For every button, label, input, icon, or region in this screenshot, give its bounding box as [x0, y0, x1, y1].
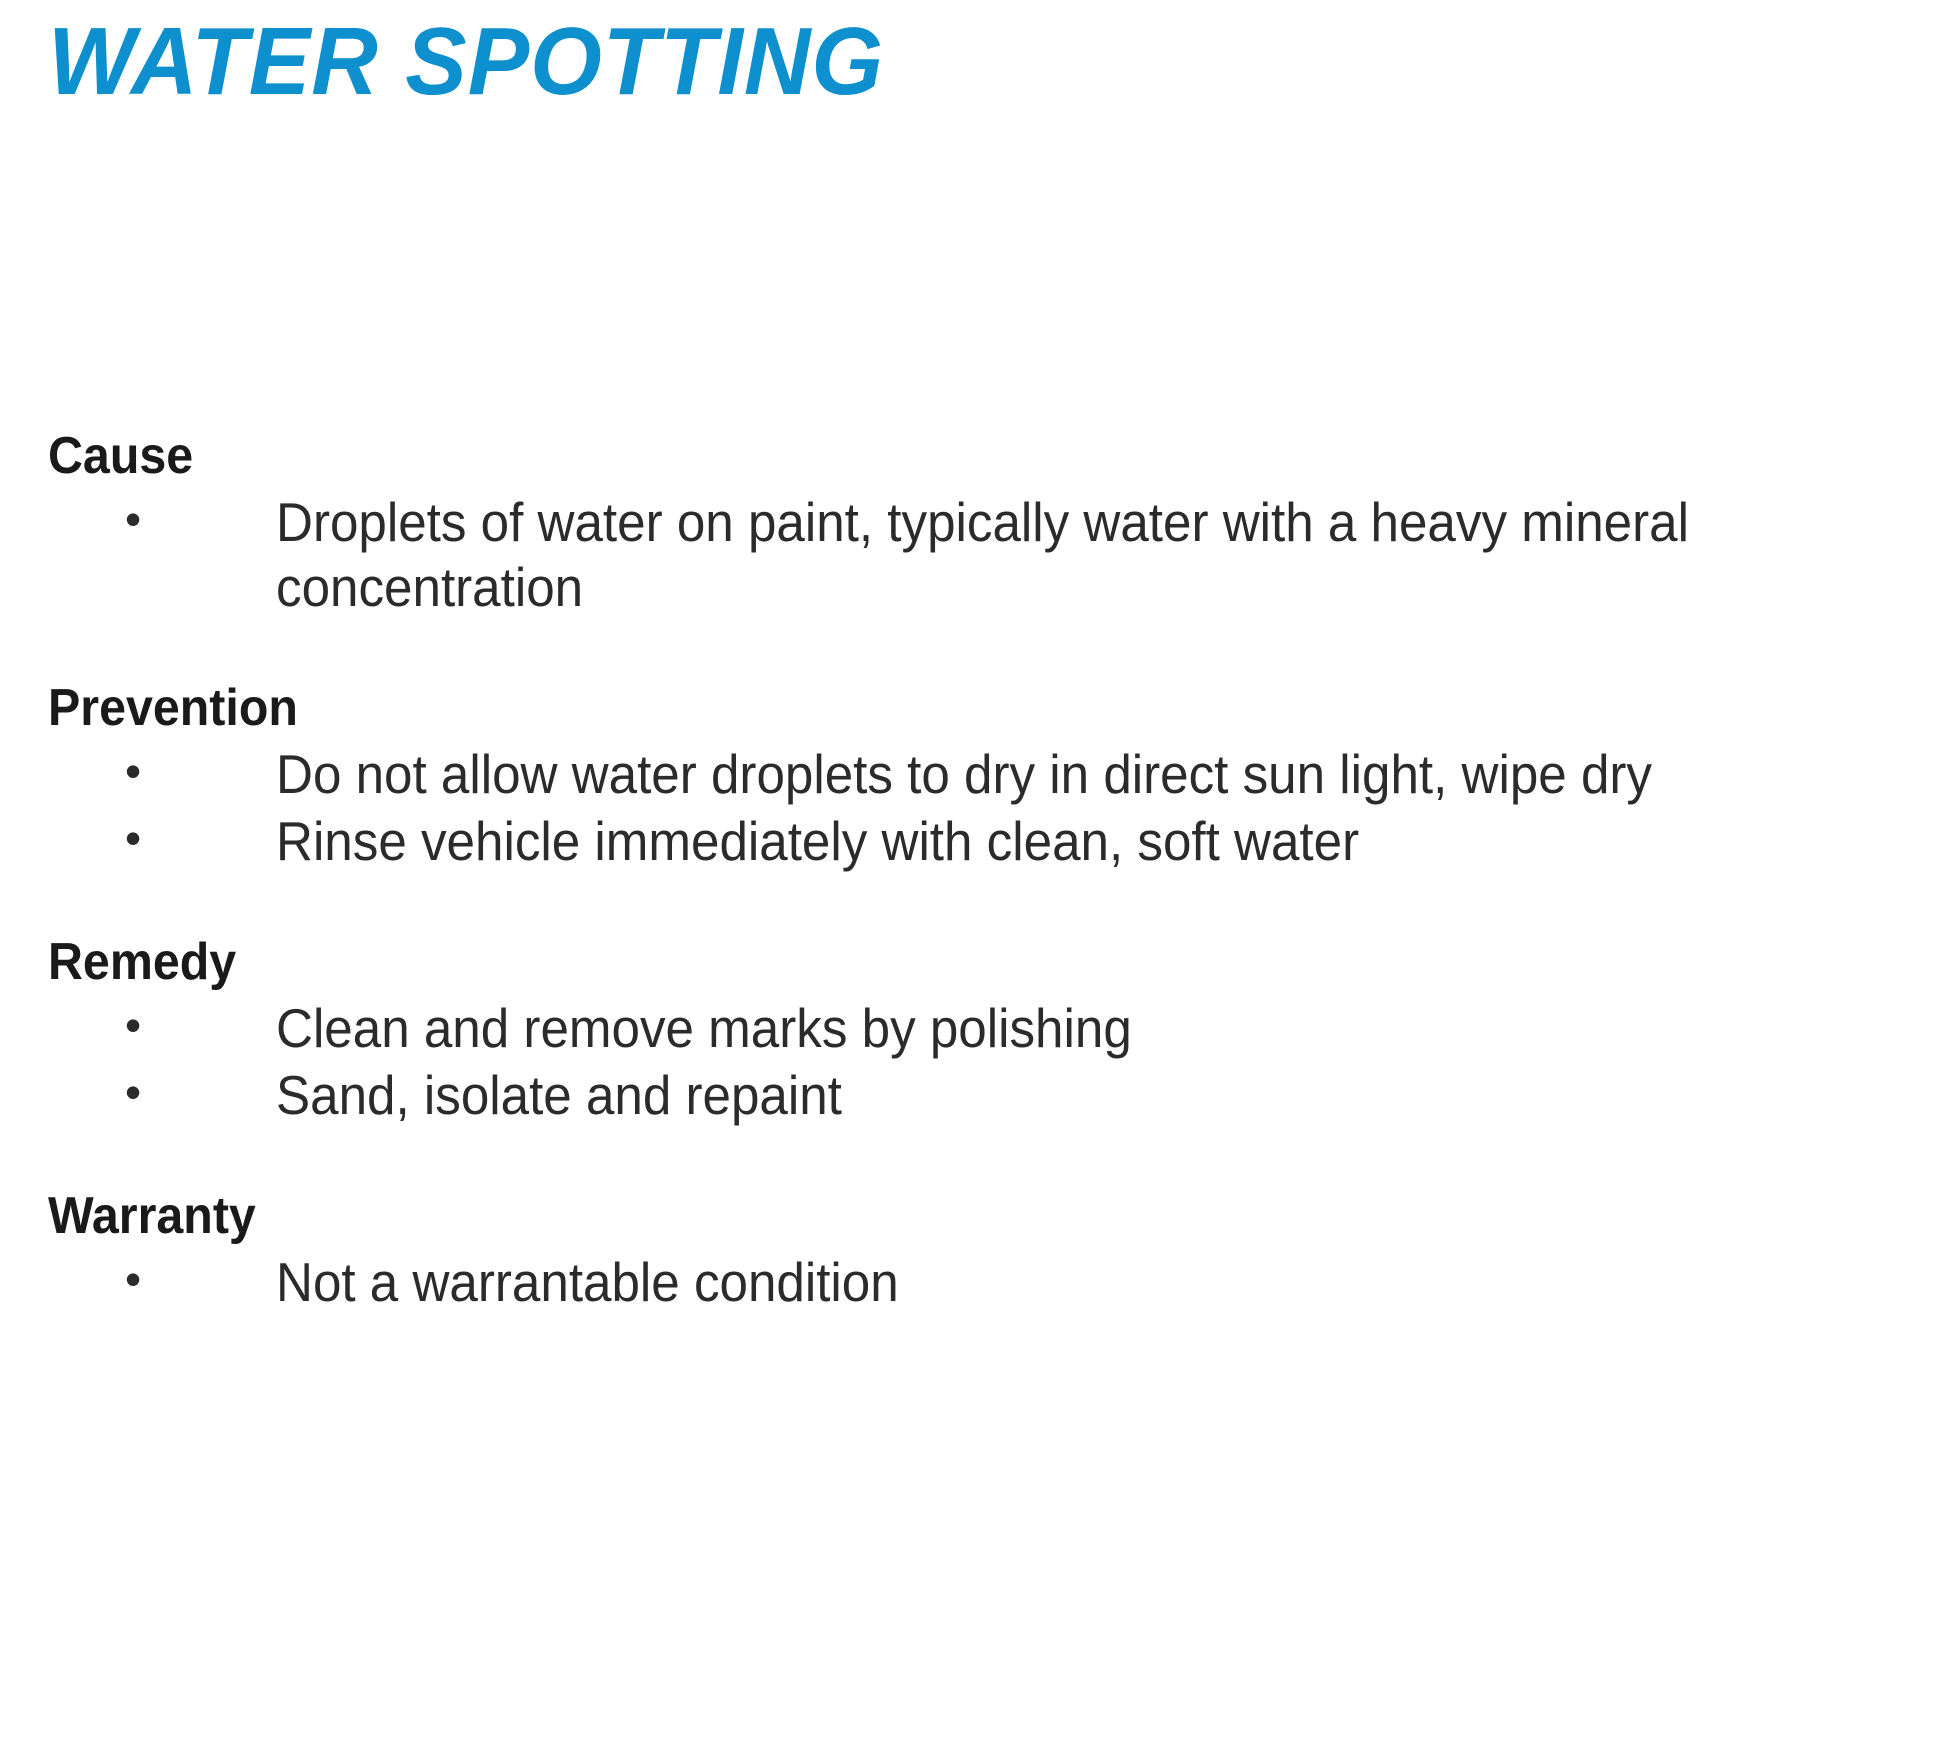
page-title: WATER SPOTTING [48, 14, 1776, 110]
bullet-list-cause: • Droplets of water on paint, typically … [0, 490, 1953, 620]
list-item-text: Do not allow water droplets to dry in di… [276, 742, 1771, 807]
bullet-list-prevention: • Do not allow water droplets to dry in … [0, 742, 1953, 874]
list-item: • Rinse vehicle immediately with clean, … [0, 809, 1953, 874]
section-heading-prevention: Prevention [48, 680, 1820, 736]
list-item: • Droplets of water on paint, typically … [0, 490, 1953, 620]
list-item: • Sand, isolate and repaint [0, 1063, 1953, 1128]
bullet-list-remedy: • Clean and remove marks by polishing • … [0, 996, 1953, 1128]
list-item: • Not a warrantable condition [0, 1250, 1953, 1315]
bullet-dot-icon: • [125, 742, 155, 802]
bullet-dot-icon: • [125, 809, 155, 869]
section-heading-cause: Cause [48, 428, 1820, 484]
section-heading-warranty: Warranty [48, 1188, 1820, 1244]
document-page: WATER SPOTTING Cause • Droplets of water… [0, 0, 1953, 1737]
section-warranty: Warranty • Not a warrantable condition [0, 1188, 1953, 1315]
section-cause: Cause • Droplets of water on paint, typi… [0, 428, 1953, 620]
section-heading-remedy: Remedy [48, 934, 1820, 990]
document-body: Cause • Droplets of water on paint, typi… [0, 428, 1953, 1317]
list-item-text: Rinse vehicle immediately with clean, so… [276, 809, 1771, 874]
title-container: WATER SPOTTING [48, 14, 1848, 110]
list-item-text: Not a warrantable condition [276, 1250, 1771, 1315]
bullet-dot-icon: • [125, 996, 155, 1056]
bullet-dot-icon: • [125, 1063, 155, 1123]
bullet-dot-icon: • [125, 1250, 155, 1310]
list-item-text: Droplets of water on paint, typically wa… [276, 490, 1771, 620]
section-remedy: Remedy • Clean and remove marks by polis… [0, 934, 1953, 1128]
bullet-dot-icon: • [125, 490, 155, 550]
list-item: • Clean and remove marks by polishing [0, 996, 1953, 1061]
list-item-text: Sand, isolate and repaint [276, 1063, 1771, 1128]
list-item: • Do not allow water droplets to dry in … [0, 742, 1953, 807]
list-item-text: Clean and remove marks by polishing [276, 996, 1771, 1061]
section-prevention: Prevention • Do not allow water droplets… [0, 680, 1953, 874]
bullet-list-warranty: • Not a warrantable condition [0, 1250, 1953, 1315]
